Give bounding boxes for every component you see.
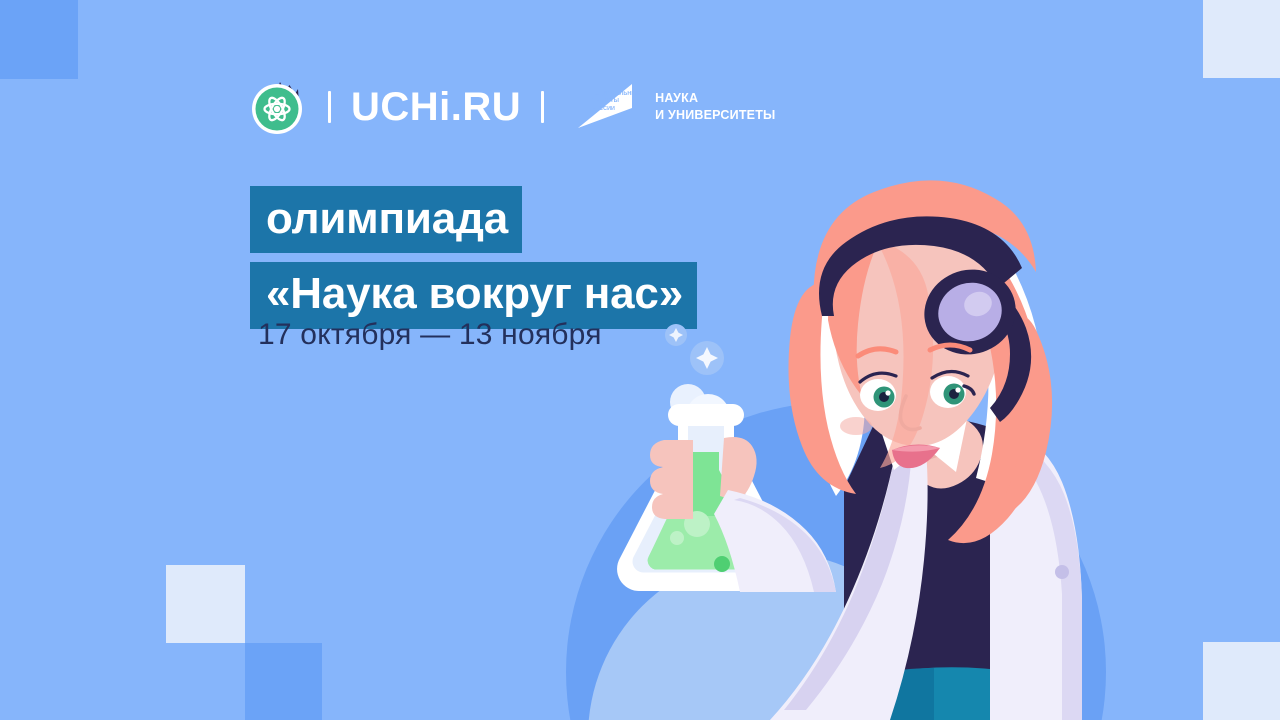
flag-text-line-3: РОССИИ xyxy=(591,106,640,113)
scientist-illustration xyxy=(600,120,1280,720)
flag-text-line-1: НАЦИОНАЛЬНЫЕ xyxy=(591,91,640,98)
sparkle-group xyxy=(665,324,724,375)
flag-text-block: НАЦИОНАЛЬНЫЕ ПРОЕКТЫ РОССИИ xyxy=(591,91,640,113)
coat-button xyxy=(1055,565,1069,579)
blush-left xyxy=(840,417,872,435)
brand-wordmark[interactable]: UCHi.RU xyxy=(351,87,521,127)
promo-banner: UCHi.RU НАЦИОНАЛЬНЫЕ ПРОЕКТЫ РОССИИ НАУК… xyxy=(0,0,1280,720)
decor-square-bottom-left-dark xyxy=(245,643,322,720)
flag-text-line-2: ПРОЕКТЫ xyxy=(591,98,640,105)
atom-logo-icon[interactable] xyxy=(250,78,308,136)
logo-divider-right xyxy=(541,91,544,123)
partner-title-line-1: НАУКА xyxy=(655,90,775,107)
decor-square-top-right xyxy=(1203,0,1280,78)
decor-square-top-left xyxy=(0,0,78,79)
event-date-range: 17 октября — 13 ноября xyxy=(258,318,602,352)
logo-divider-left xyxy=(328,91,331,123)
headline-line-1: олимпиада xyxy=(250,186,522,253)
decor-square-bottom-left-light xyxy=(166,565,245,643)
